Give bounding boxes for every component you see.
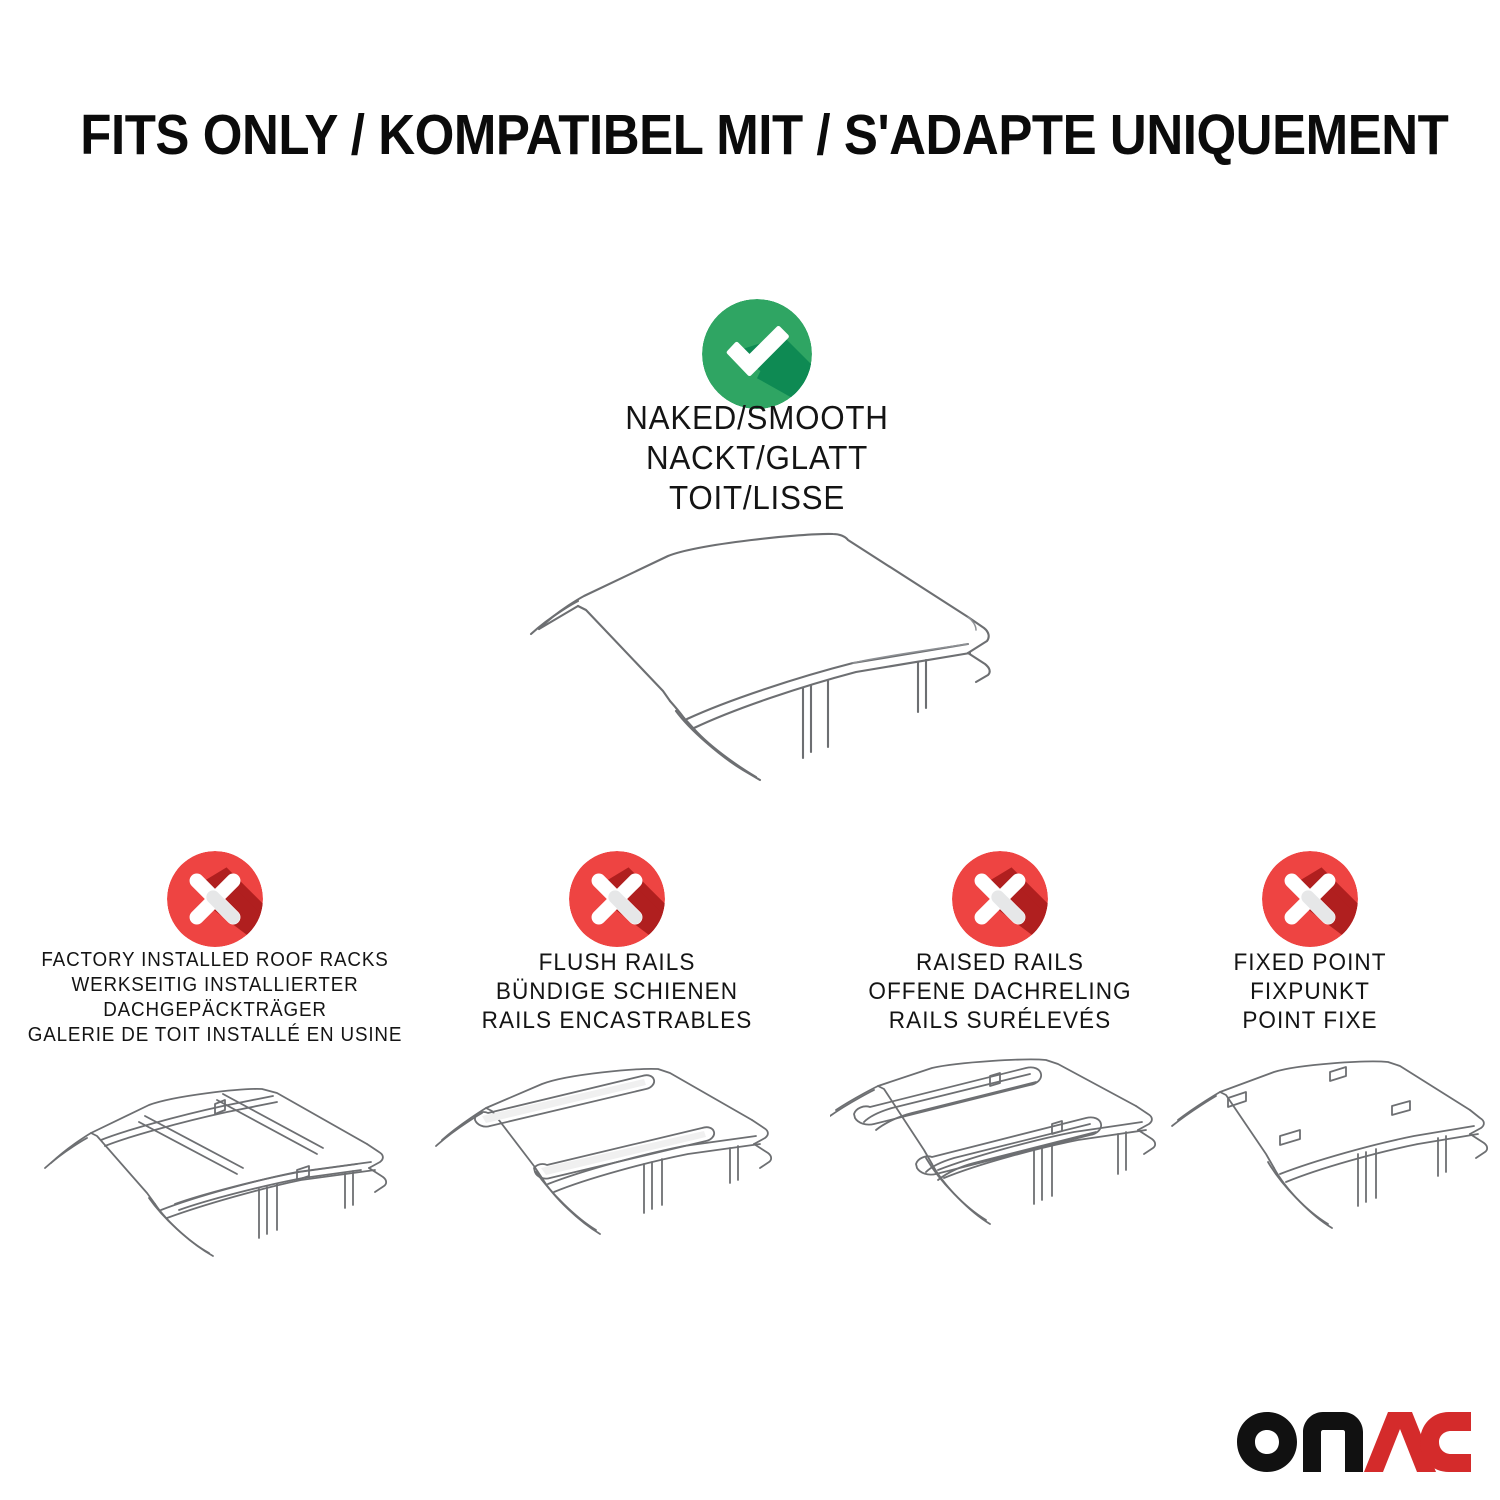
- caption-line: BÜNDIGE SCHIENEN: [448, 977, 786, 1006]
- incompatible-caption-flush-rails: FLUSH RAILS BÜNDIGE SCHIENEN RAILS ENCAS…: [437, 948, 797, 1035]
- compatible-line-2: NACKT/GLATT: [567, 438, 947, 478]
- caption-line: FIXED POINT: [1169, 948, 1451, 977]
- cross-circle-icon: [569, 851, 665, 947]
- car-roof-naked-smooth-illustration: [498, 522, 1046, 810]
- car-roof-fixed-point-illustration: [1170, 1058, 1500, 1288]
- incompatible-caption-fixed-point: FIXED POINT FIXPUNKT POINT FIXE: [1160, 948, 1460, 1035]
- car-roof-factory-rack-illustration: [27, 1058, 423, 1288]
- caption-line: RAILS SURÉLEVÉS: [831, 1006, 1169, 1035]
- car-roof-flush-rails-illustration: [430, 1058, 826, 1288]
- caption-line: GALERIE DE TOIT INSTALLÉ EN USINE: [27, 1023, 403, 1048]
- caption-line: OFFENE DACHRELING: [831, 977, 1169, 1006]
- cross-circle-icon: [952, 851, 1048, 947]
- caption-line: WERKSEITIG INSTALLIERTER: [27, 973, 403, 998]
- caption-line: POINT FIXE: [1169, 1006, 1451, 1035]
- caption-line: FACTORY INSTALLED ROOF RACKS: [27, 948, 403, 973]
- caption-line: DACHGEPÄCKTRÄGER: [27, 998, 403, 1023]
- check-circle-icon: [702, 299, 812, 409]
- caption-line: RAILS ENCASTRABLES: [448, 1006, 786, 1035]
- page-title-bar: FITS ONLY / KOMPATIBEL MIT / S'ADAPTE UN…: [0, 104, 1500, 166]
- cross-circle-icon: [1262, 851, 1358, 947]
- caption-line: RAISED RAILS: [831, 948, 1169, 977]
- compatible-line-1: NAKED/SMOOTH: [567, 398, 947, 438]
- cross-circle-icon: [167, 851, 263, 947]
- caption-line: FIXPUNKT: [1169, 977, 1451, 1006]
- compatible-line-3: TOIT/LISSE: [567, 478, 947, 518]
- car-roof-raised-rails-illustration: [830, 1058, 1226, 1288]
- page-title: FITS ONLY / KOMPATIBEL MIT / S'ADAPTE UN…: [80, 104, 1448, 166]
- caption-line: FLUSH RAILS: [448, 948, 786, 977]
- incompatible-caption-raised-rails: RAISED RAILS OFFENE DACHRELING RAILS SUR…: [820, 948, 1180, 1035]
- incompatible-caption-factory-installed-roof-racks: FACTORY INSTALLED ROOF RACKS WERKSEITIG …: [15, 948, 415, 1048]
- omac-logo: [1236, 1411, 1472, 1473]
- compatible-caption: NAKED/SMOOTH NACKT/GLATT TOIT/LISSE: [567, 398, 947, 518]
